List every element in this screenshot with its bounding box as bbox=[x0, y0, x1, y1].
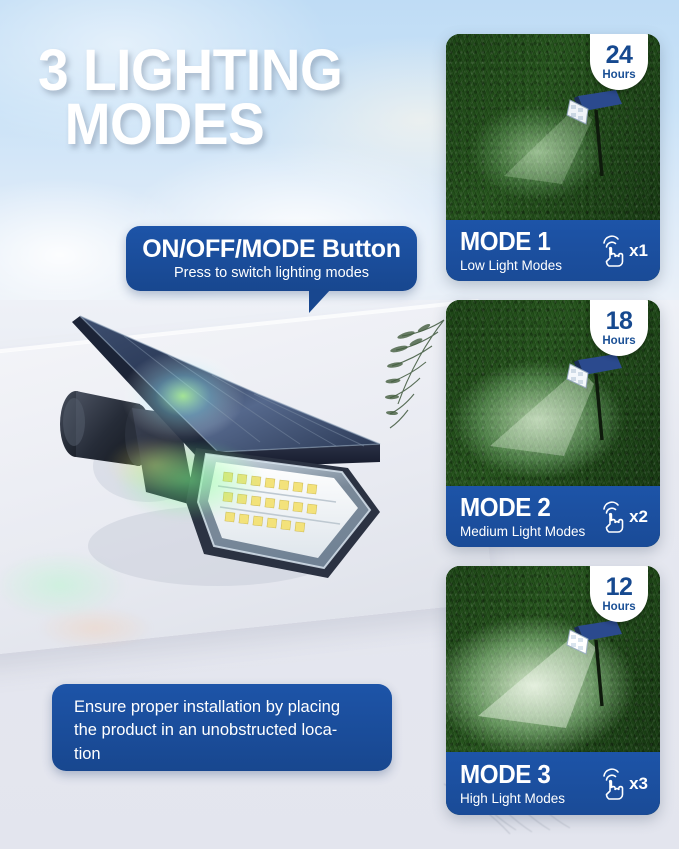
mode-title: MODE 1 bbox=[460, 228, 587, 254]
press-indicator: x3 bbox=[597, 767, 660, 801]
press-count: x1 bbox=[629, 241, 648, 261]
mode-footer-text: MODE 3 High Light Modes bbox=[446, 761, 597, 806]
lens-flare bbox=[121, 350, 245, 442]
press-count: x3 bbox=[629, 774, 648, 794]
mode-button-callout-subtitle: Press to switch lighting modes bbox=[174, 265, 369, 281]
duration-hours-value: 18 bbox=[606, 309, 633, 334]
mode-subtitle: Low Light Modes bbox=[460, 258, 597, 273]
page-title: 3 LIGHTING MODES bbox=[38, 44, 409, 152]
mode-subtitle: High Light Modes bbox=[460, 791, 597, 806]
duration-badge: 24 Hours bbox=[590, 34, 648, 90]
mode-button-callout: ON/OFF/MODE Button Press to switch light… bbox=[126, 226, 417, 291]
mode-subtitle: Medium Light Modes bbox=[460, 524, 597, 539]
duration-hours-value: 12 bbox=[606, 575, 633, 600]
stake-light-icon bbox=[564, 80, 630, 190]
stake-light-icon bbox=[564, 610, 630, 720]
duration-hours-label: Hours bbox=[602, 601, 635, 613]
mode-footer-text: MODE 2 Medium Light Modes bbox=[446, 494, 597, 539]
duration-badge: 12 Hours bbox=[590, 566, 648, 622]
tap-hand-icon bbox=[597, 234, 627, 268]
mode-footer: MODE 1 Low Light Modes x1 bbox=[446, 220, 660, 281]
stake-light-icon bbox=[564, 344, 630, 454]
duration-hours-label: Hours bbox=[602, 69, 635, 81]
mode-card[interactable]: 24 Hours MODE 1 Low Light Modes x1 bbox=[446, 34, 660, 281]
installation-note-line-3: tion bbox=[74, 743, 372, 766]
installation-note-line-1: Ensure proper installation by placing bbox=[74, 696, 372, 719]
press-indicator: x1 bbox=[597, 234, 660, 268]
duration-badge: 18 Hours bbox=[590, 300, 648, 356]
mode-card[interactable]: 18 Hours MODE 2 Medium Light Modes x2 bbox=[446, 300, 660, 547]
press-indicator: x2 bbox=[597, 500, 660, 534]
mode-footer-text: MODE 1 Low Light Modes bbox=[446, 228, 597, 273]
tap-hand-icon bbox=[597, 767, 627, 801]
mode-title: MODE 2 bbox=[460, 494, 587, 520]
mode-footer: MODE 3 High Light Modes x3 bbox=[446, 752, 660, 815]
page-title-line-2: MODES bbox=[65, 98, 409, 152]
installation-note-callout: Ensure proper installation by placing th… bbox=[52, 684, 392, 771]
tap-hand-icon bbox=[597, 500, 627, 534]
mode-button-callout-title: ON/OFF/MODE Button bbox=[142, 236, 400, 262]
mode-title: MODE 3 bbox=[460, 761, 587, 787]
duration-hours-label: Hours bbox=[602, 335, 635, 347]
press-count: x2 bbox=[629, 507, 648, 527]
mode-card[interactable]: 12 Hours MODE 3 High Light Modes x3 bbox=[446, 566, 660, 815]
mode-footer: MODE 2 Medium Light Modes x2 bbox=[446, 486, 660, 547]
duration-hours-value: 24 bbox=[606, 43, 633, 68]
product-photo-solar-wall-light bbox=[28, 296, 448, 626]
infographic-canvas: 3 LIGHTING MODES ON/OFF/MODE Button Pres… bbox=[0, 0, 679, 849]
installation-note-line-2: the product in an unobstructed loca- bbox=[74, 719, 372, 742]
